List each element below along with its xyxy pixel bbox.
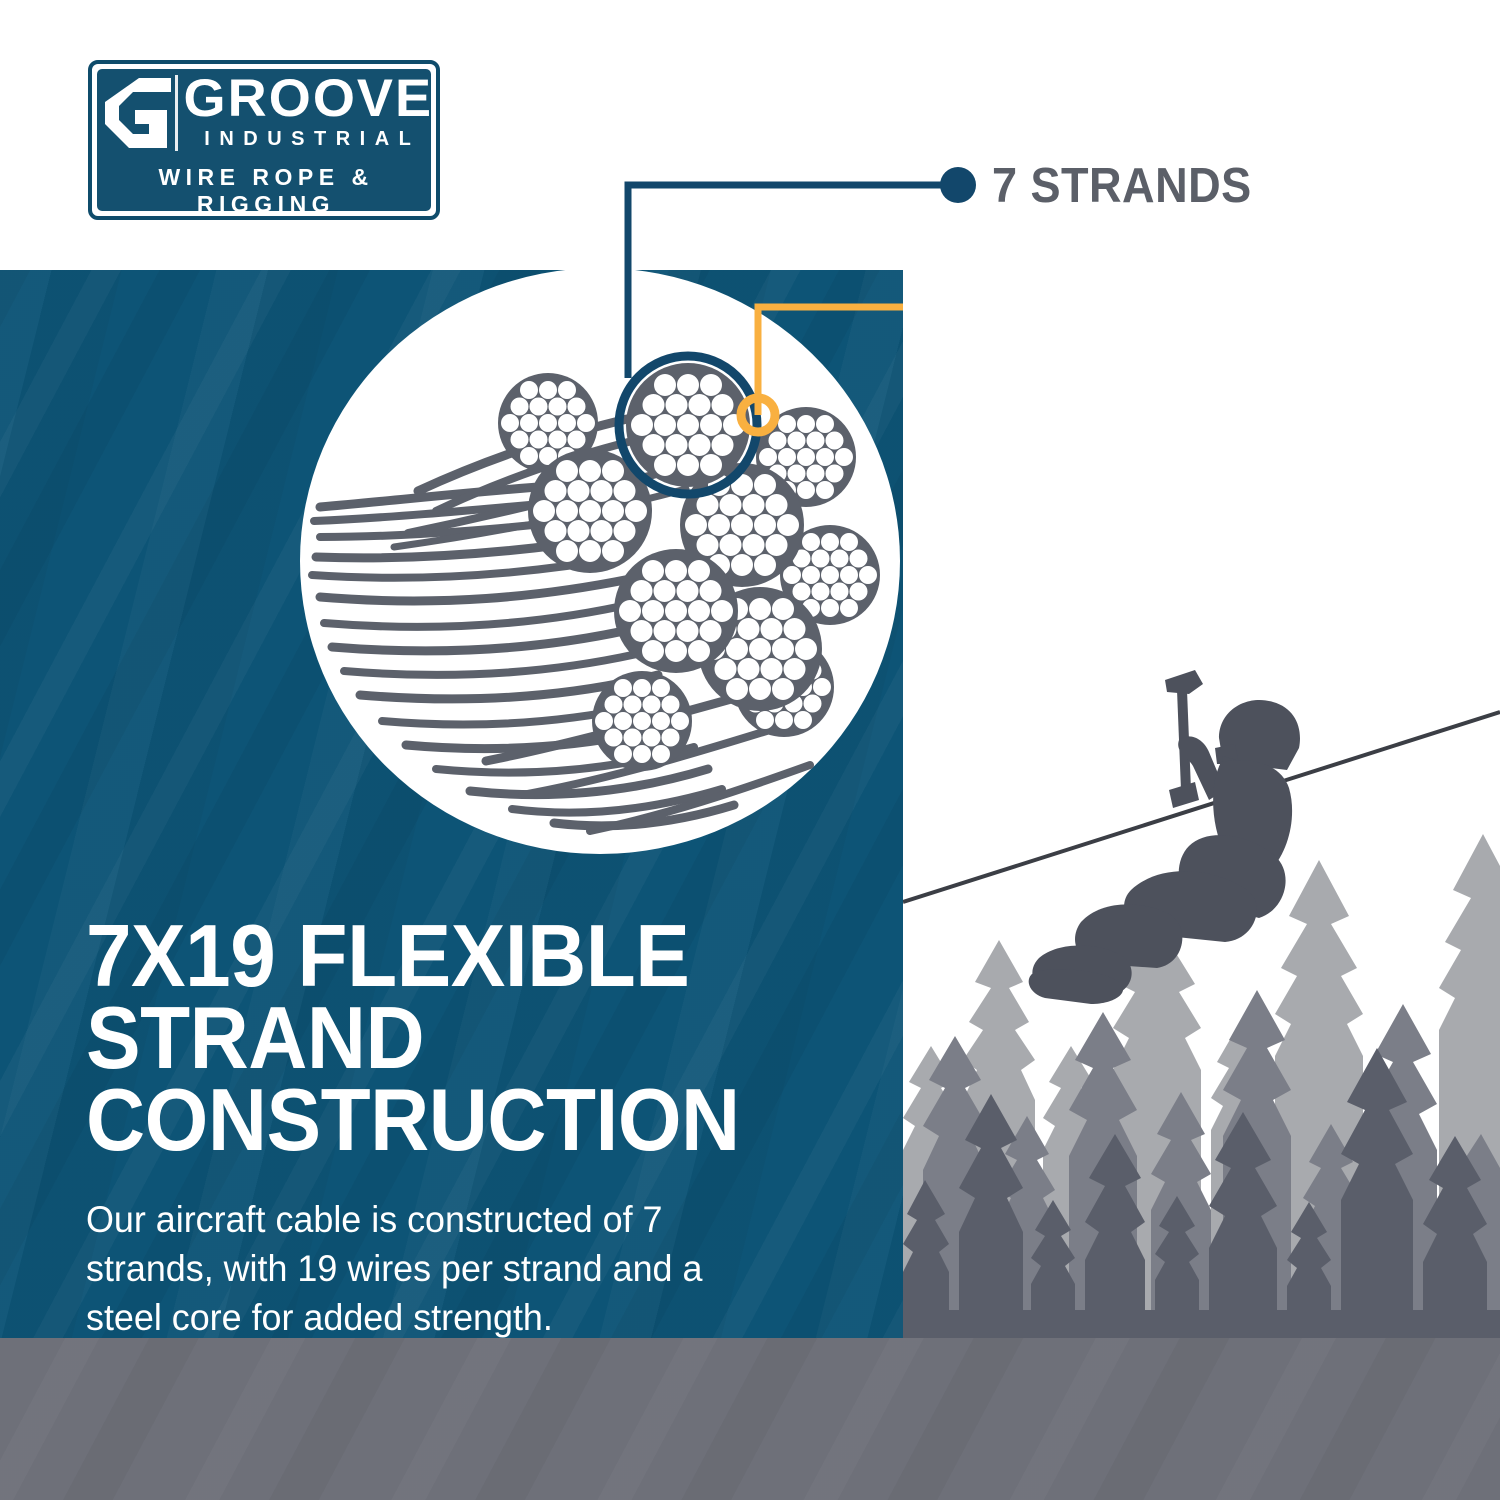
zipline-scene (903, 270, 1500, 1338)
zipline-scene-art (903, 270, 1500, 1338)
logo-monogram-box (103, 75, 178, 151)
page-title: 7X19 FLEXIBLE STRAND CONSTRUCTION (86, 915, 821, 1160)
logo-wordmark: GROOVE INDUSTRIAL (178, 75, 431, 151)
logo-inner-plate: GROOVE INDUSTRIAL WIRE ROPE & RIGGING (97, 69, 431, 211)
logo-top-row: GROOVE INDUSTRIAL (97, 69, 431, 151)
logo-tagline: WIRE ROPE & RIGGING (97, 155, 431, 227)
infographic-canvas: GROOVE INDUSTRIAL WIRE ROPE & RIGGING (0, 0, 1500, 1500)
callout-label-strands: 7 STRANDS (992, 158, 1252, 214)
brand-logo: GROOVE INDUSTRIAL WIRE ROPE & RIGGING (88, 60, 440, 220)
headline-line-2: STRAND CONSTRUCTION (86, 997, 821, 1161)
callout-dot-strands (940, 167, 976, 203)
bottom-gray-band (0, 1338, 1500, 1500)
logo-name: GROOVE (184, 75, 434, 124)
logo-subname: INDUSTRIAL (196, 128, 420, 151)
groove-g-icon (103, 76, 175, 150)
feature-text-block: 7X19 FLEXIBLE STRAND CONSTRUCTION Our ai… (86, 915, 876, 1343)
body-description: Our aircraft cable is constructed of 7 s… (86, 1196, 765, 1342)
